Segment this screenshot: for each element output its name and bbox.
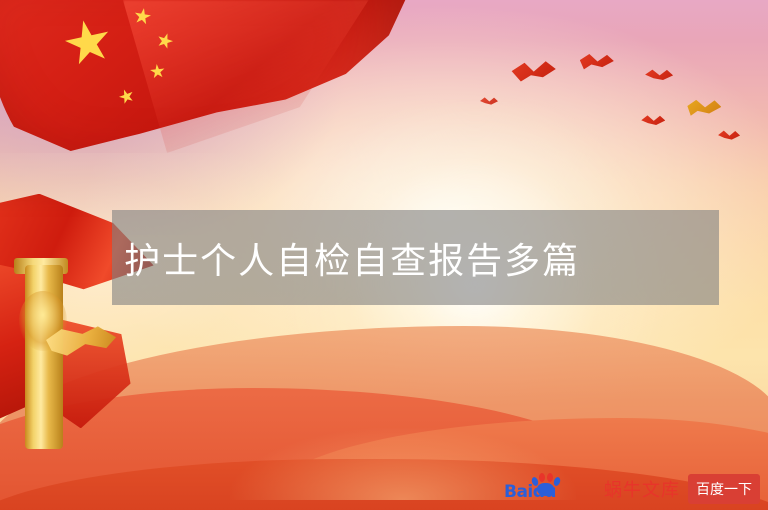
baidu-logo[interactable]: Baidu xyxy=(504,474,596,504)
title-overlay-bar: 护士个人自检自查报告多篇 xyxy=(112,210,719,305)
site-brand-label: 蜗牛文库 xyxy=(604,476,680,502)
watermark-bar: Baidu 蜗牛文库 百度一下 xyxy=(504,474,760,504)
baidu-paw-icon xyxy=(530,473,560,497)
poster-image: 护士个人自检自查报告多篇 Baidu 蜗牛文库 百度一下 xyxy=(0,0,768,510)
page-title: 护士个人自检自查报告多篇 xyxy=(114,232,580,284)
baidu-search-button[interactable]: 百度一下 xyxy=(688,474,760,504)
